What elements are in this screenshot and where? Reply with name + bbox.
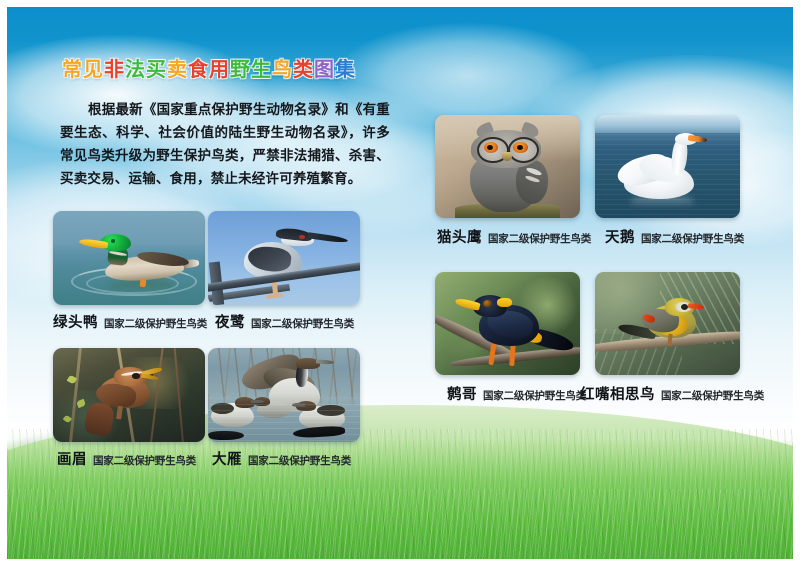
bird-protection-level: 国家二级保护野生鸟类 bbox=[661, 390, 764, 402]
bird-card-hwamei[interactable] bbox=[53, 348, 205, 442]
red-billed-leiothrix-photo bbox=[595, 272, 740, 375]
bird-protection-level: 国家二级保护野生鸟类 bbox=[104, 318, 207, 330]
swan-photo bbox=[595, 115, 740, 218]
wild-goose-photo bbox=[208, 348, 360, 442]
bird-name: 天鹅 bbox=[605, 230, 635, 246]
myna-eye bbox=[483, 300, 492, 307]
bird-card-wild-goose[interactable] bbox=[208, 348, 360, 442]
owl-pupil-left bbox=[487, 145, 493, 150]
bird-protection-level: 国家二级保护野生鸟类 bbox=[483, 390, 586, 402]
bird-card-mallard[interactable] bbox=[53, 211, 205, 305]
hwamei-eye bbox=[132, 373, 140, 378]
title-char-13: 集 bbox=[335, 59, 356, 81]
bird-name: 大雁 bbox=[212, 452, 242, 468]
bird-label-owl: 猫头鹰国家二级保护野生鸟类 bbox=[437, 226, 591, 247]
bird-protection-level: 国家二级保护野生鸟类 bbox=[251, 318, 354, 330]
bird-card-owl[interactable] bbox=[435, 115, 580, 218]
title-char-5: 卖 bbox=[167, 59, 188, 81]
bird-card-hill-myna[interactable] bbox=[435, 272, 580, 375]
title-char-7: 用 bbox=[209, 59, 230, 81]
bird-card-leiothrix[interactable] bbox=[595, 272, 740, 375]
sky-band bbox=[595, 115, 740, 133]
bird-label-mallard: 绿头鸭国家二级保护野生鸟类 bbox=[53, 311, 207, 332]
title-char-6: 食 bbox=[188, 59, 209, 81]
bird-name: 夜鹭 bbox=[215, 315, 245, 331]
title-char-3: 法 bbox=[125, 59, 146, 81]
bird-label-swan: 天鹅国家二级保护野生鸟类 bbox=[605, 226, 744, 247]
bird-protection-level: 国家二级保护野生鸟类 bbox=[248, 455, 351, 467]
bird-name: 红嘴相思鸟 bbox=[580, 387, 655, 403]
page-title: 常见非法买卖食用野生鸟类图集 bbox=[62, 60, 356, 80]
title-char-8: 野 bbox=[230, 59, 251, 81]
bird-protection-level: 国家二级保护野生鸟类 bbox=[93, 455, 196, 467]
title-char-9: 生 bbox=[251, 59, 272, 81]
title-char-2: 非 bbox=[104, 59, 125, 81]
bird-card-swan[interactable] bbox=[595, 115, 740, 218]
bird-label-hwamei: 画眉国家二级保护野生鸟类 bbox=[57, 448, 196, 469]
night-heron-photo bbox=[208, 211, 360, 305]
intro-paragraph: 根据最新《国家重点保护野生动物名录》和《有重要生态、科学、社会价值的陆生野生动物… bbox=[60, 98, 390, 190]
title-char-10: 鸟 bbox=[272, 59, 293, 81]
leiothrix-eye bbox=[681, 304, 688, 310]
owl-pupil-right bbox=[517, 145, 523, 150]
bird-label-night-heron: 夜鹭国家二级保护野生鸟类 bbox=[215, 311, 354, 332]
heron-foot bbox=[266, 293, 283, 299]
poster-canvas: 常见非法买卖食用野生鸟类图集 根据最新《国家重点保护野生动物名录》和《有重要生态… bbox=[0, 0, 800, 566]
title-char-12: 图 bbox=[314, 59, 335, 81]
owl-photo bbox=[435, 115, 580, 218]
bird-label-wild-goose: 大雁国家二级保护野生鸟类 bbox=[212, 448, 351, 469]
title-char-1: 见 bbox=[83, 59, 104, 81]
heron-bill bbox=[308, 232, 348, 243]
title-char-4: 买 bbox=[146, 59, 167, 81]
bird-protection-level: 国家二级保护野生鸟类 bbox=[488, 233, 591, 245]
duck-leg bbox=[139, 278, 146, 286]
bird-name: 猫头鹰 bbox=[437, 230, 482, 246]
bird-name: 画眉 bbox=[57, 452, 87, 468]
bird-label-hill-myna: 鹩哥国家二级保护野生鸟类 bbox=[447, 383, 586, 404]
bird-card-night-heron[interactable] bbox=[208, 211, 360, 305]
title-char-0: 常 bbox=[62, 59, 83, 81]
leiothrix-leg bbox=[667, 334, 673, 347]
myna-yellow-wattle bbox=[497, 298, 512, 307]
bird-protection-level: 国家二级保护野生鸟类 bbox=[641, 233, 744, 245]
bird-name: 绿头鸭 bbox=[53, 315, 98, 331]
poster-content: 常见非法买卖食用野生鸟类图集 根据最新《国家重点保护野生动物名录》和《有重要生态… bbox=[0, 0, 800, 566]
bird-label-leiothrix: 红嘴相思鸟国家二级保护野生鸟类 bbox=[580, 383, 764, 404]
mallard-duck-photo bbox=[53, 211, 205, 305]
bird-name: 鹩哥 bbox=[447, 387, 477, 403]
title-char-11: 类 bbox=[293, 59, 314, 81]
hill-myna-photo bbox=[435, 272, 580, 375]
hwamei-photo bbox=[53, 348, 205, 442]
